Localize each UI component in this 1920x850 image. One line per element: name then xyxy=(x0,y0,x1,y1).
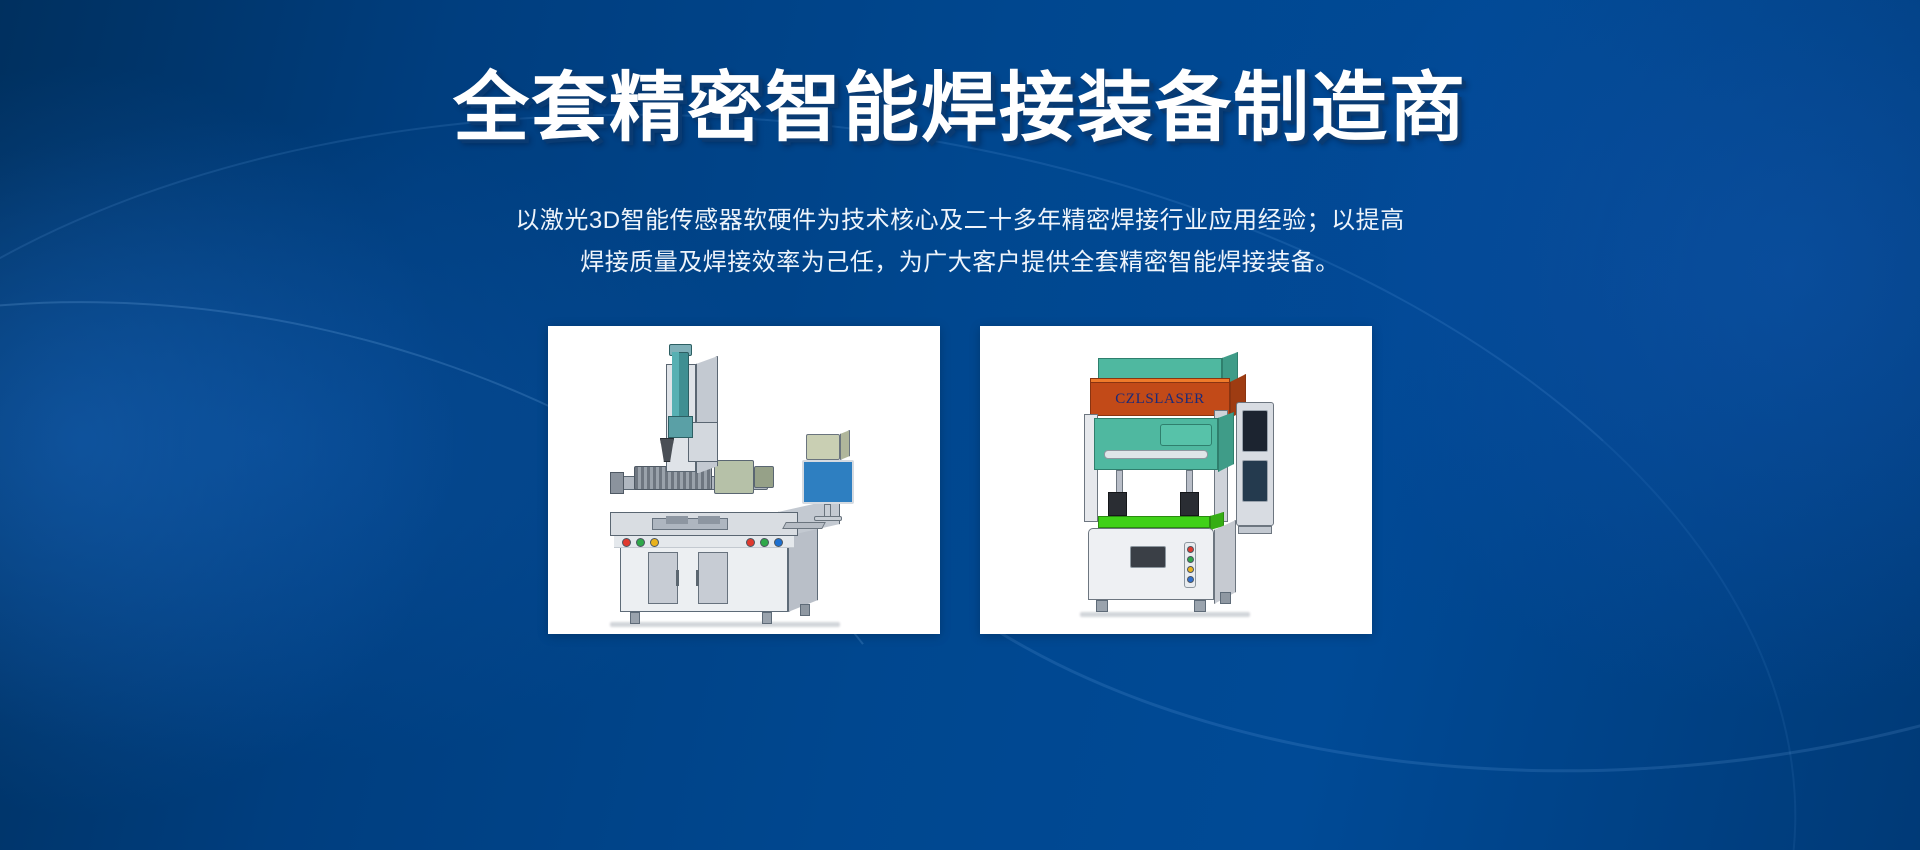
subtitle-line-2: 焊接质量及焊接效率为己任，为广大客户提供全套精密智能焊接装备。 xyxy=(360,242,1560,284)
banner-headline: 全套精密智能焊接装备制造商 xyxy=(0,68,1920,150)
product-card-czlslaser[interactable]: CZLSLASER xyxy=(980,326,1372,634)
subtitle-line-1: 以激光3D智能传感器软硬件为技术核心及二十多年精密焊接行业应用经验；以提高 xyxy=(360,200,1560,242)
czlslaser-machine-illustration: CZLSLASER xyxy=(980,326,1372,634)
indicator-light-red xyxy=(622,538,631,547)
workstation-illustration xyxy=(548,326,940,634)
banner-subtitle: 以激光3D智能传感器软硬件为技术核心及二十多年精密焊接行业应用经验；以提高 焊接… xyxy=(360,200,1560,284)
weld-head-right xyxy=(1180,492,1199,516)
hero-banner: 全套精密智能焊接装备制造商 以激光3D智能传感器软硬件为技术核心及二十多年精密焊… xyxy=(0,0,1920,850)
machine-button-blue xyxy=(1187,576,1194,583)
control-panel xyxy=(1130,546,1166,568)
brand-banner: CZLSLASER xyxy=(1090,382,1230,416)
hmi-screen-top xyxy=(1242,410,1268,452)
machine-button-amber xyxy=(1187,566,1194,573)
hmi-screen-bottom xyxy=(1242,460,1268,502)
machine-button-green xyxy=(1187,556,1194,563)
product-card-workstation[interactable] xyxy=(548,326,940,634)
product-image-gallery: CZLSLASER xyxy=(0,326,1920,634)
machine-button-red xyxy=(1187,546,1194,553)
operator-monitor xyxy=(802,460,854,504)
indicator-light-amber xyxy=(650,538,659,547)
indicator-light-green xyxy=(636,538,645,547)
indicator-light-green-2 xyxy=(760,538,769,547)
work-bed xyxy=(1098,516,1210,528)
weld-head-left xyxy=(1108,492,1127,516)
brand-label: CZLSLASER xyxy=(1115,391,1205,408)
indicator-light-blue xyxy=(774,538,783,547)
indicator-light-red-2 xyxy=(746,538,755,547)
